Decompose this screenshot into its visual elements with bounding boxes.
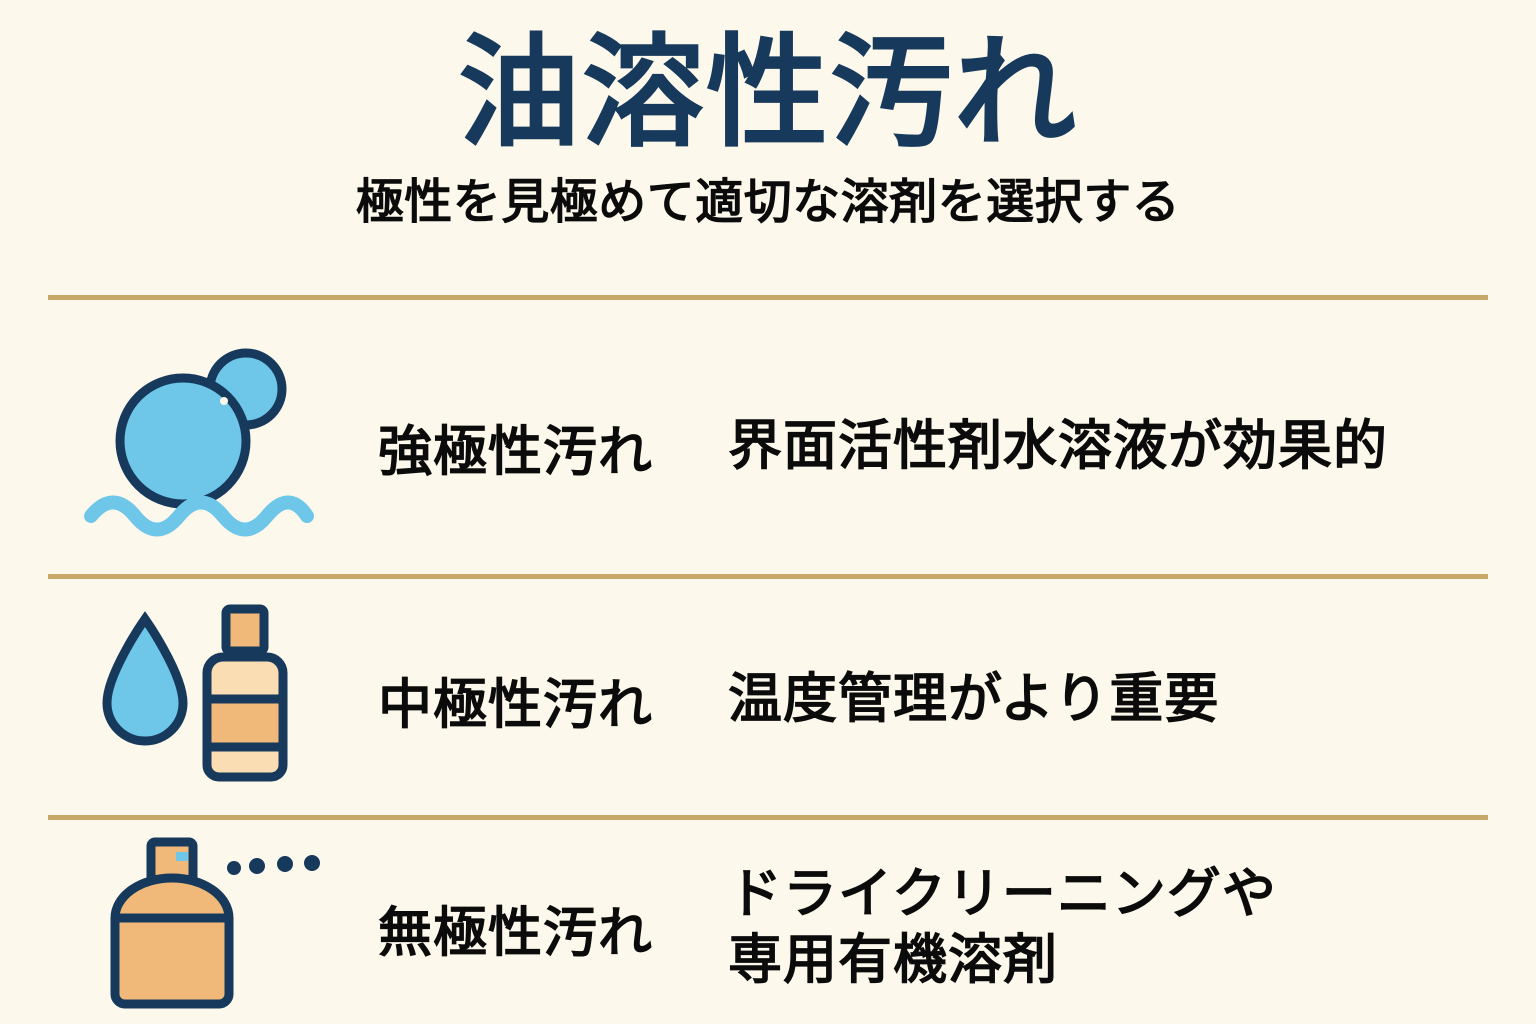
label-non-polarity: 無極性汚れ	[378, 888, 728, 967]
divider-bottom	[48, 815, 1488, 820]
label-medium-polarity: 中極性汚れ	[378, 660, 728, 739]
desc-strong-polarity: 界面活性剤水溶液が効果的	[728, 413, 1488, 479]
spray-can-icon	[93, 832, 333, 1022]
infographic-page: 油溶性汚れ 極性を見極めて適切な溶剤を選択する 強極性汚れ 界面活性剤水溶液が効…	[0, 0, 1536, 1024]
desc-line-1: 界面活性剤水溶液が効果的	[728, 413, 1488, 479]
desc-line-1: 温度管理がより重要	[728, 666, 1488, 732]
row-non-polarity: 無極性汚れ ドライクリーニングや 専用有機溶剤	[48, 832, 1488, 1022]
page-subtitle: 極性を見極めて適切な溶剤を選択する	[0, 166, 1536, 232]
label-strong-polarity: 強極性汚れ	[378, 407, 728, 486]
icon-cell-non-polarity	[48, 832, 378, 1022]
desc-medium-polarity: 温度管理がより重要	[728, 666, 1488, 732]
bubbles-water-icon	[83, 341, 343, 551]
header: 油溶性汚れ 極性を見極めて適切な溶剤を選択する	[0, 0, 1536, 232]
row-strong-polarity: 強極性汚れ 界面活性剤水溶液が効果的	[48, 330, 1488, 562]
desc-line-1: ドライクリーニングや	[728, 861, 1488, 927]
icon-cell-strong-polarity	[48, 330, 378, 562]
divider-middle	[48, 574, 1488, 579]
icon-cell-medium-polarity	[48, 594, 378, 804]
divider-top	[48, 295, 1488, 300]
desc-line-2: 専用有機溶剤	[728, 927, 1488, 993]
droplet-bottle-icon	[93, 599, 333, 799]
page-title: 油溶性汚れ	[0, 0, 1536, 166]
row-medium-polarity: 中極性汚れ 温度管理がより重要	[48, 594, 1488, 804]
desc-non-polarity: ドライクリーニングや 専用有機溶剤	[728, 861, 1488, 993]
